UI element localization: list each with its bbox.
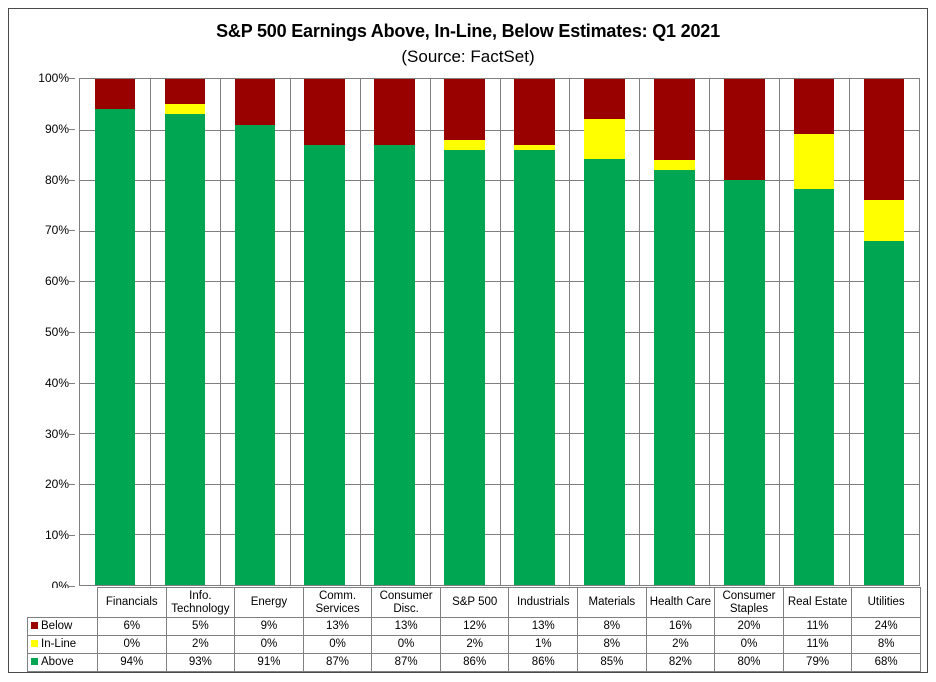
bar-segment-below[interactable] — [724, 79, 765, 180]
y-axis-tick-label: 100% — [38, 71, 69, 85]
table-column-header-line: Consumer — [373, 590, 439, 603]
table-column-header: Info.Technology — [166, 588, 235, 618]
table-column-header: Financials — [98, 588, 167, 618]
bar-slot — [430, 79, 500, 585]
table-column-header: ConsumerStaples — [715, 588, 784, 618]
y-axis-tick-mark — [69, 332, 75, 333]
table-cell: 16% — [646, 618, 715, 636]
data-table-wrapper: FinancialsInfo.TechnologyEnergyComm.Serv… — [27, 587, 920, 672]
y-axis-tick-mark — [69, 484, 75, 485]
table-cell: 85% — [578, 654, 647, 672]
bar-segment-below[interactable] — [95, 79, 136, 109]
legend-swatch-icon — [31, 640, 38, 647]
bar-slot — [150, 79, 220, 585]
bar-segment-below[interactable] — [864, 79, 905, 200]
y-axis-tick-mark — [69, 434, 75, 435]
stacked-bar[interactable] — [864, 79, 905, 585]
bar-segment-in-line[interactable] — [584, 119, 625, 159]
table-row: Above94%93%91%87%87%86%86%85%82%80%79%68… — [28, 654, 921, 672]
table-cell: 86% — [440, 654, 509, 672]
table-cell: 11% — [783, 636, 852, 654]
y-axis-tick-label: 60% — [45, 274, 69, 288]
table-row: Below6%5%9%13%13%12%13%8%16%20%11%24% — [28, 618, 921, 636]
y-axis-tick-mark — [69, 383, 75, 384]
table-cell: 79% — [783, 654, 852, 672]
bar-segment-in-line[interactable] — [444, 140, 485, 150]
y-axis-tick-label: 50% — [45, 325, 69, 339]
legend-label: Above — [41, 656, 74, 668]
bar-slot — [220, 79, 290, 585]
table-cell: 68% — [852, 654, 921, 672]
table-column-header: Real Estate — [783, 588, 852, 618]
bar-segment-below[interactable] — [654, 79, 695, 160]
stacked-bar[interactable] — [444, 79, 485, 585]
legend-row-above: Above — [28, 654, 98, 672]
bar-slot — [779, 79, 849, 585]
table-cell: 12% — [440, 618, 509, 636]
table-cell: 0% — [235, 636, 304, 654]
table-cell: 0% — [98, 636, 167, 654]
y-axis-tick-label: 20% — [45, 477, 69, 491]
table-column-header: Industrials — [509, 588, 578, 618]
table-cell: 0% — [715, 636, 784, 654]
table-cell: 6% — [98, 618, 167, 636]
table-column-header-line: Info. — [168, 590, 234, 603]
table-column-header: Health Care — [646, 588, 715, 618]
bar-segment-above[interactable] — [304, 145, 345, 585]
stacked-bar[interactable] — [95, 79, 136, 585]
bar-slot — [639, 79, 709, 585]
y-axis: 100%90%80%70%60%50%40%30%20%10%0% — [9, 78, 75, 586]
bar-segment-in-line[interactable] — [864, 200, 905, 240]
table-cell: 82% — [646, 654, 715, 672]
chart-title: S&P 500 Earnings Above, In-Line, Below E… — [9, 21, 927, 42]
stacked-bar[interactable] — [794, 79, 835, 585]
table-cell: 86% — [509, 654, 578, 672]
bar-slot — [360, 79, 430, 585]
table-column-header-line: Materials — [579, 596, 645, 609]
legend-row-in-line: In-Line — [28, 636, 98, 654]
table-cell: 11% — [783, 618, 852, 636]
bar-segment-above[interactable] — [165, 114, 206, 585]
table-cell: 0% — [372, 636, 441, 654]
y-axis-tick-label: 30% — [45, 427, 69, 441]
y-axis-tick-mark — [69, 230, 75, 231]
bar-segment-in-line[interactable] — [654, 160, 695, 170]
y-axis-tick-mark — [69, 281, 75, 282]
table-cell: 87% — [372, 654, 441, 672]
table-cell: 5% — [166, 618, 235, 636]
chart-subtitle: (Source: FactSet) — [9, 47, 927, 67]
stacked-bar[interactable] — [514, 79, 555, 585]
bar-segment-above[interactable] — [514, 150, 555, 585]
stacked-bar[interactable] — [724, 79, 765, 585]
table-cell: 91% — [235, 654, 304, 672]
y-axis-tick-mark — [69, 78, 75, 79]
plot-area — [79, 78, 920, 586]
table-column-header: S&P 500 — [440, 588, 509, 618]
bar-segment-above[interactable] — [584, 159, 625, 585]
bar-slot — [290, 79, 360, 585]
table-corner-cell — [28, 588, 98, 618]
y-axis-tick-mark — [69, 129, 75, 130]
stacked-bar[interactable] — [654, 79, 695, 585]
plot-area-wrapper: 100%90%80%70%60%50%40%30%20%10%0% — [79, 78, 920, 586]
table-column-header-line: Staples — [716, 603, 782, 616]
table-cell: 93% — [166, 654, 235, 672]
stacked-bar[interactable] — [374, 79, 415, 585]
data-table: FinancialsInfo.TechnologyEnergyComm.Serv… — [27, 587, 921, 672]
bar-slot — [849, 79, 919, 585]
bar-segment-above[interactable] — [95, 109, 136, 585]
table-column-header-line: Technology — [168, 603, 234, 616]
table-column-header: Utilities — [852, 588, 921, 618]
legend-swatch-icon — [31, 658, 38, 665]
stacked-bar[interactable] — [165, 79, 206, 585]
bar-segment-above[interactable] — [235, 125, 276, 585]
chart-frame: S&P 500 Earnings Above, In-Line, Below E… — [8, 8, 928, 673]
bar-segment-below[interactable] — [444, 79, 485, 140]
y-axis-tick-label: 90% — [45, 122, 69, 136]
table-cell: 8% — [852, 636, 921, 654]
table-column-header-line: Health Care — [648, 596, 714, 609]
bar-segment-below[interactable] — [794, 79, 835, 134]
table-cell: 8% — [578, 636, 647, 654]
y-axis-tick-mark — [69, 535, 75, 536]
table-cell: 13% — [303, 618, 372, 636]
table-body: Below6%5%9%13%13%12%13%8%16%20%11%24%In-… — [28, 618, 921, 672]
bar-segment-in-line[interactable] — [165, 104, 206, 114]
y-axis-tick-mark — [69, 180, 75, 181]
bar-segment-above[interactable] — [444, 150, 485, 585]
table-column-header-line: Industrials — [510, 596, 576, 609]
table-header-row: FinancialsInfo.TechnologyEnergyComm.Serv… — [28, 588, 921, 618]
bar-segment-above[interactable] — [654, 170, 695, 585]
bar-slot — [569, 79, 639, 585]
table-column-header: Materials — [578, 588, 647, 618]
bar-slot — [500, 79, 570, 585]
bar-segment-above[interactable] — [864, 241, 905, 585]
table-cell: 13% — [509, 618, 578, 636]
bar-segment-below[interactable] — [584, 79, 625, 119]
stacked-bar[interactable] — [235, 79, 276, 585]
table-cell: 24% — [852, 618, 921, 636]
bar-segment-below[interactable] — [514, 79, 555, 145]
table-column-header-line: Consumer — [716, 590, 782, 603]
table-cell: 87% — [303, 654, 372, 672]
bar-slot — [80, 79, 150, 585]
y-axis-tick-label: 40% — [45, 376, 69, 390]
table-column-header-line: Services — [305, 603, 371, 616]
bar-segment-above[interactable] — [724, 180, 765, 585]
table-column-header-line: Comm. — [305, 590, 371, 603]
bar-segment-below[interactable] — [304, 79, 345, 145]
table-column-header-line: S&P 500 — [442, 596, 508, 609]
table-column-header-line: Financials — [99, 596, 165, 609]
bar-segment-above[interactable] — [374, 145, 415, 585]
table-cell: 94% — [98, 654, 167, 672]
y-axis-tick-label: 10% — [45, 528, 69, 542]
stacked-bar[interactable] — [304, 79, 345, 585]
legend-row-below: Below — [28, 618, 98, 636]
bar-segment-in-line[interactable] — [794, 134, 835, 189]
table-cell: 20% — [715, 618, 784, 636]
table-column-header-line: Utilities — [853, 596, 919, 609]
bar-segment-below[interactable] — [374, 79, 415, 145]
table-cell: 9% — [235, 618, 304, 636]
table-cell: 2% — [440, 636, 509, 654]
table-column-header: Energy — [235, 588, 304, 618]
legend-swatch-icon — [31, 622, 38, 629]
legend-label: In-Line — [41, 638, 76, 650]
table-cell: 8% — [578, 618, 647, 636]
table-column-header-line: Energy — [236, 596, 302, 609]
bar-segment-below[interactable] — [235, 79, 276, 125]
table-column-header: Comm.Services — [303, 588, 372, 618]
legend-label: Below — [41, 620, 72, 632]
table-cell: 1% — [509, 636, 578, 654]
table-column-header: ConsumerDisc. — [372, 588, 441, 618]
table-cell: 0% — [303, 636, 372, 654]
y-axis-tick-label: 80% — [45, 173, 69, 187]
stacked-bar[interactable] — [584, 79, 625, 585]
bar-series-group — [80, 79, 919, 585]
table-cell: 80% — [715, 654, 784, 672]
table-cell: 2% — [166, 636, 235, 654]
bar-slot — [709, 79, 779, 585]
table-column-header-line: Disc. — [373, 603, 439, 616]
table-column-header-line: Real Estate — [785, 596, 851, 609]
bar-segment-above[interactable] — [794, 189, 835, 585]
bar-segment-below[interactable] — [165, 79, 206, 104]
table-row: In-Line0%2%0%0%0%2%1%8%2%0%11%8% — [28, 636, 921, 654]
y-axis-tick-label: 70% — [45, 223, 69, 237]
table-cell: 2% — [646, 636, 715, 654]
table-cell: 13% — [372, 618, 441, 636]
